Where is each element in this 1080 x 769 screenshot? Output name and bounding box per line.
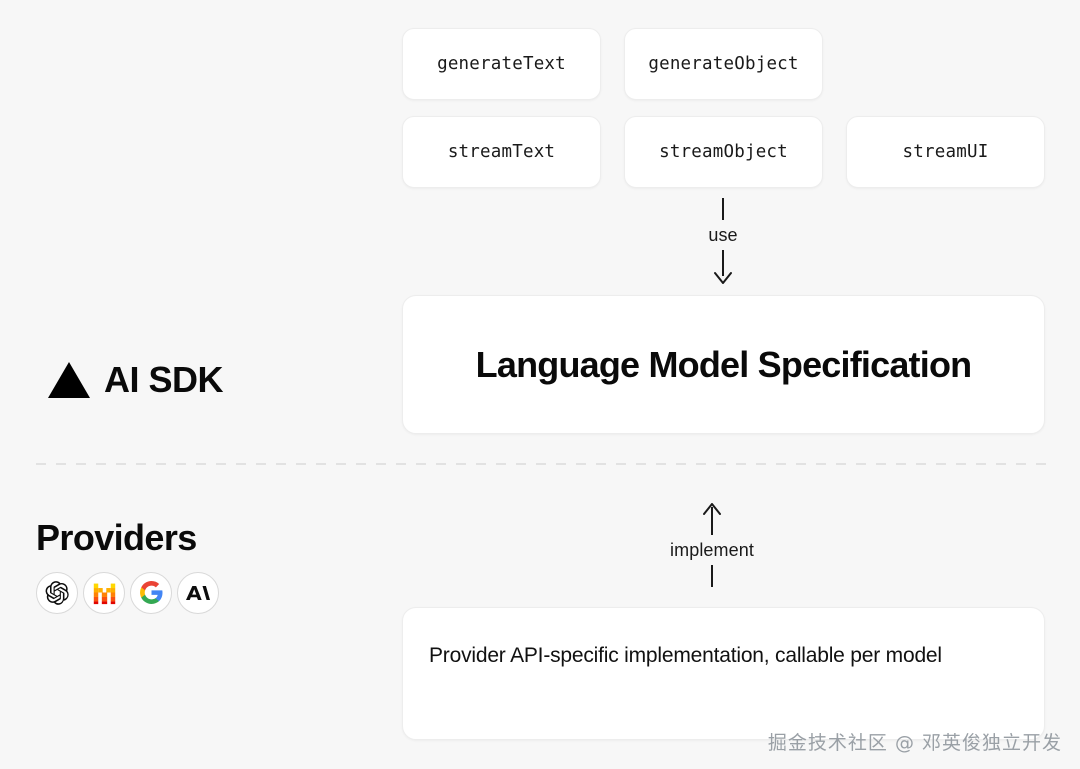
providers-section: Providers [36, 518, 219, 614]
ai-sdk-label: AI SDK [104, 362, 223, 398]
function-label: streamText [448, 142, 555, 162]
function-card-stream-object[interactable]: streamObject [624, 116, 823, 188]
function-label: generateObject [648, 54, 798, 74]
mistral-logo-icon [92, 580, 117, 605]
google-logo-icon [139, 580, 164, 605]
function-label: streamUI [903, 142, 989, 162]
connector-line-segment [711, 565, 713, 587]
provider-chip-google[interactable] [130, 572, 172, 614]
connector-implement: implement [652, 503, 772, 587]
function-card-generate-object[interactable]: generateObject [624, 28, 823, 100]
connector-use-label: use [708, 220, 737, 250]
providers-title: Providers [36, 518, 219, 558]
connector-implement-label: implement [670, 535, 754, 565]
provider-chip-mistral[interactable] [83, 572, 125, 614]
function-card-stream-text[interactable]: streamText [402, 116, 601, 188]
ai-sdk-brand: AI SDK [48, 362, 223, 398]
connector-line-segment [722, 198, 724, 220]
spec-title: Language Model Specification [476, 344, 972, 386]
function-card-generate-text[interactable]: generateText [402, 28, 601, 100]
provider-chip-openai[interactable] [36, 572, 78, 614]
provider-chip-anthropic[interactable] [177, 572, 219, 614]
vercel-triangle-icon [48, 362, 90, 398]
arrow-down-icon [712, 250, 734, 284]
diagram-canvas: generateText generateObject streamText s… [0, 0, 1080, 769]
dashed-divider [36, 463, 1046, 465]
watermark-text: 掘金技术社区 @ 邓英俊独立开发 [768, 728, 1062, 755]
provider-implementation-text: Provider API-specific implementation, ca… [429, 640, 942, 673]
connector-use: use [683, 198, 763, 284]
language-model-specification-card[interactable]: Language Model Specification [402, 295, 1045, 434]
function-label: generateText [437, 54, 566, 74]
arrow-up-icon [701, 503, 723, 535]
function-label: streamObject [659, 142, 788, 162]
anthropic-logo-icon [186, 581, 210, 605]
provider-implementation-card[interactable]: Provider API-specific implementation, ca… [402, 607, 1045, 740]
function-card-stream-ui[interactable]: streamUI [846, 116, 1045, 188]
provider-logo-list [36, 572, 219, 614]
openai-logo-icon [44, 580, 70, 606]
